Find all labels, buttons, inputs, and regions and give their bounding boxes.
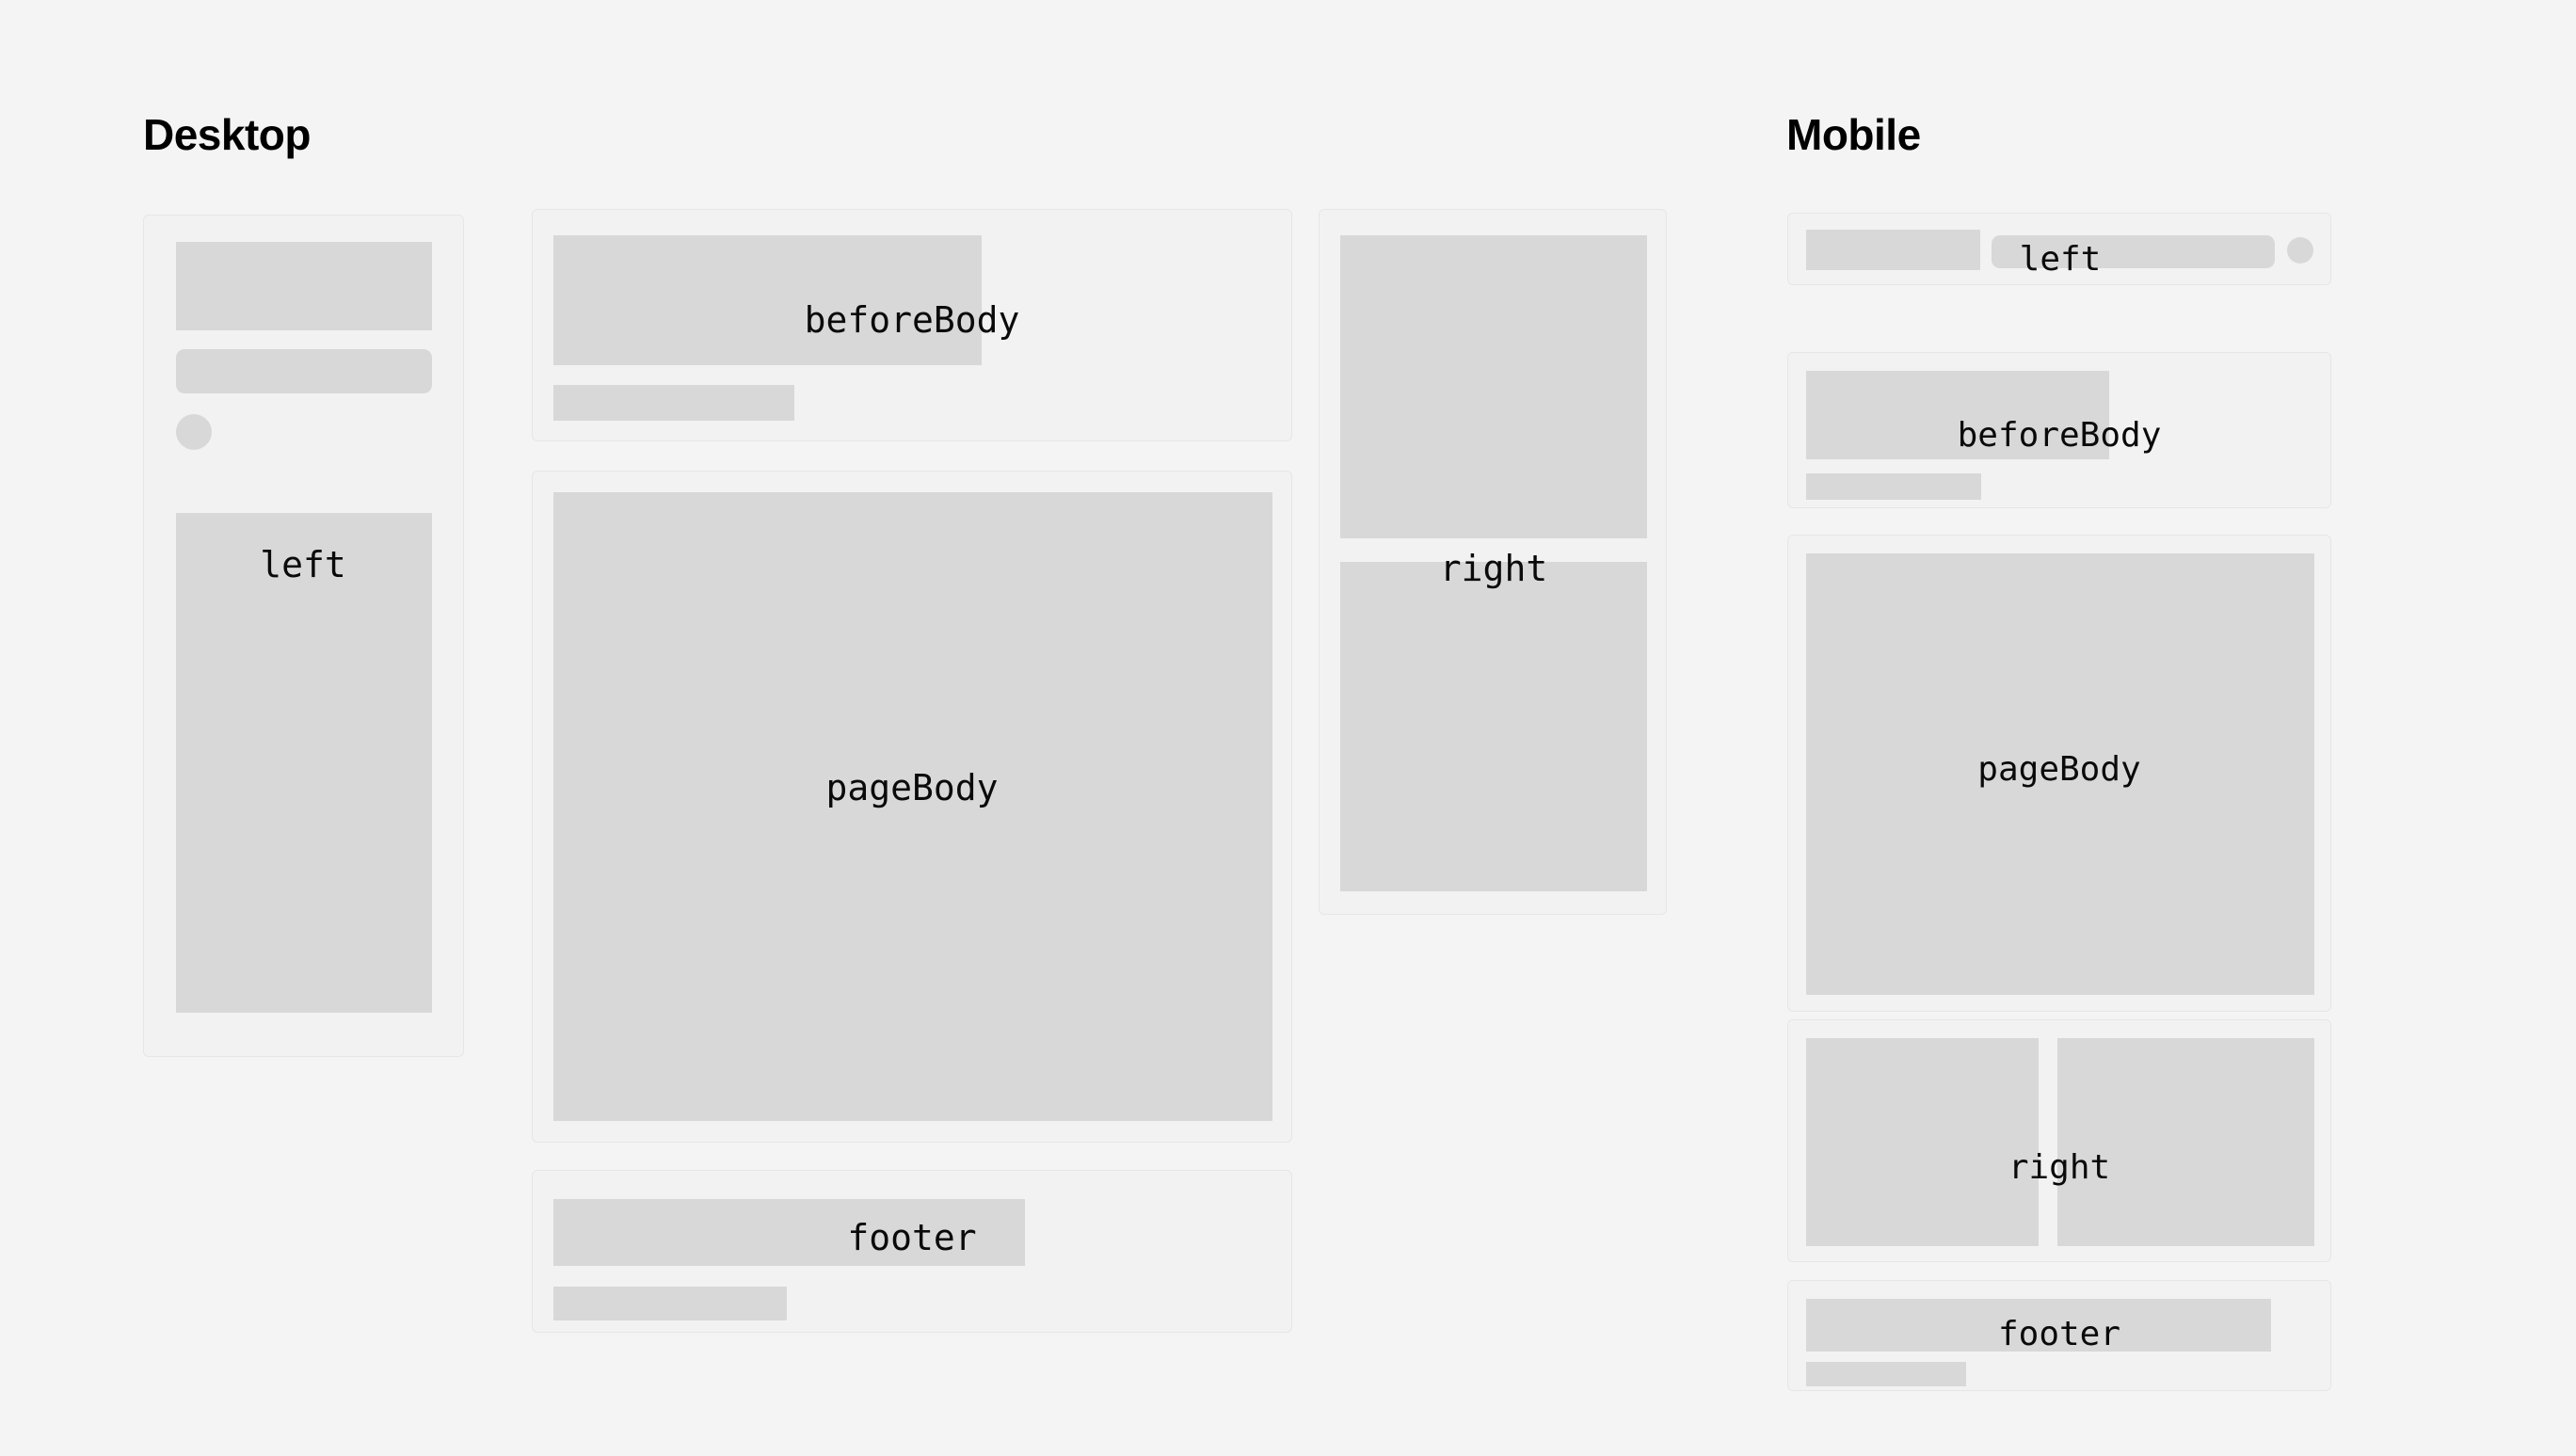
skeleton-bar-wide: [1806, 1299, 2271, 1352]
skeleton-block-left-column: [1806, 1038, 2039, 1246]
skeleton-bar: [1806, 1362, 1966, 1386]
mobile-pagebody-slot-panel[interactable]: [1787, 535, 2331, 1012]
skeleton-bar: [553, 385, 794, 421]
section-heading-mobile: Mobile: [1786, 113, 1921, 156]
skeleton-block-lower: [1340, 562, 1647, 891]
mobile-left-slot-panel[interactable]: [1787, 213, 2331, 285]
skeleton-block-upper: [1340, 235, 1647, 538]
section-heading-desktop: Desktop: [143, 113, 311, 156]
skeleton-block-hero: [176, 242, 432, 330]
skeleton-block-body: [553, 492, 1272, 1121]
skeleton-block-hero: [1806, 371, 2109, 459]
skeleton-block-hero: [1806, 230, 1980, 270]
skeleton-bar: [553, 1287, 787, 1320]
skeleton-block-body: [1806, 553, 2314, 995]
desktop-pagebody-slot-panel[interactable]: [532, 471, 1292, 1143]
desktop-beforebody-slot-panel[interactable]: [532, 209, 1292, 441]
mobile-beforebody-slot-panel[interactable]: [1787, 352, 2331, 508]
skeleton-block-right-column: [2057, 1038, 2314, 1246]
skeleton-bar: [176, 349, 432, 393]
layout-preview-stage: Desktop left beforeBody pageBody right f…: [0, 0, 2576, 1456]
mobile-right-slot-panel[interactable]: [1787, 1019, 2331, 1262]
skeleton-block-hero: [553, 235, 982, 365]
desktop-left-slot-panel[interactable]: [143, 215, 464, 1057]
desktop-right-slot-panel[interactable]: [1319, 209, 1667, 915]
skeleton-bar: [1806, 473, 1981, 500]
skeleton-bar: [1992, 235, 2275, 268]
mobile-footer-slot-panel[interactable]: [1787, 1280, 2331, 1391]
skeleton-avatar-circle: [2287, 237, 2313, 264]
desktop-footer-slot-panel[interactable]: [532, 1170, 1292, 1333]
skeleton-avatar-circle: [176, 414, 212, 450]
skeleton-bar-wide: [553, 1199, 1025, 1266]
skeleton-block-tall: [176, 513, 432, 1013]
